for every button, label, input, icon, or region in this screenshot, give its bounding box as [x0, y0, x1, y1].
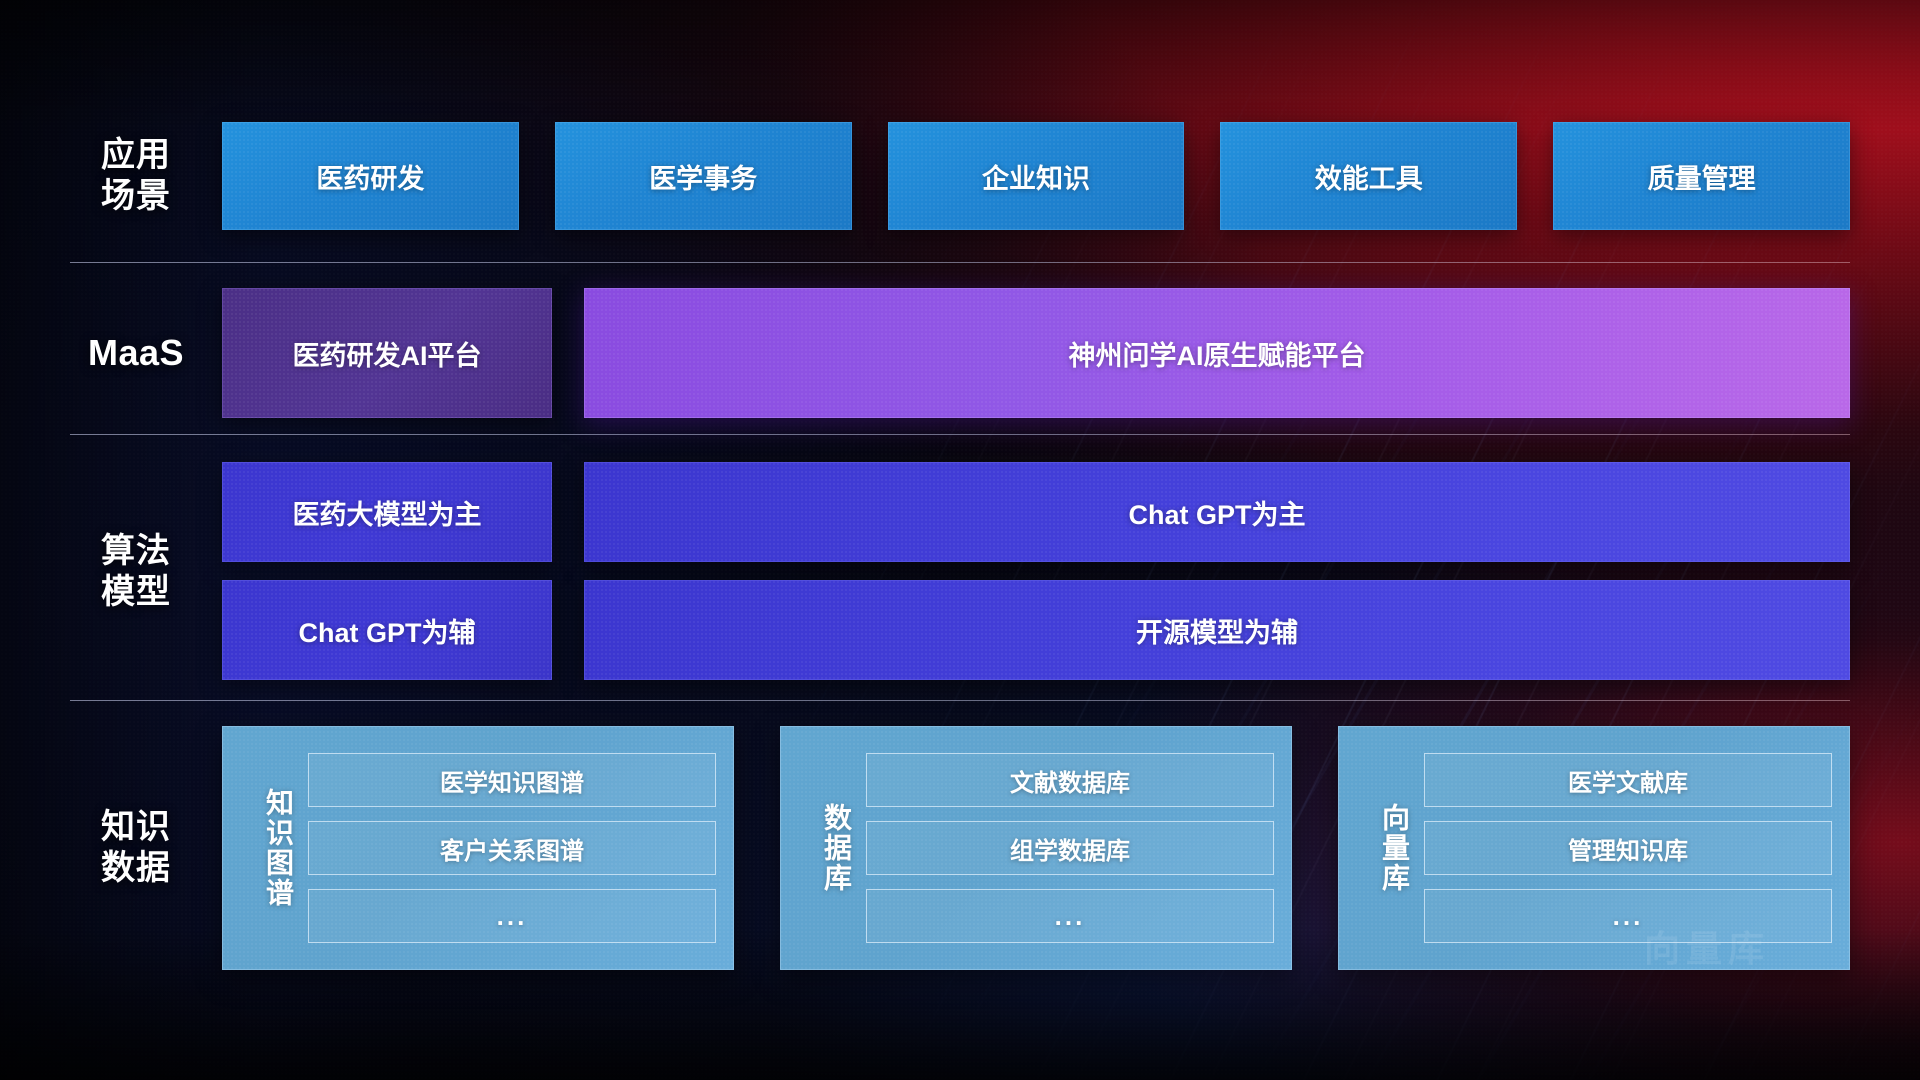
app-tile-quality-management[interactable]: 质量管理	[1553, 122, 1850, 230]
row-label-application-scenarios: 应用 场景	[70, 135, 202, 218]
app-tile-medical-affairs[interactable]: 医学事务	[555, 122, 852, 230]
algorithm-tiles: 医药大模型为主 Chat GPT为主 Chat GPT为辅 开源模型为辅	[222, 462, 1850, 682]
algo-tile-chatgpt-secondary[interactable]: Chat GPT为辅	[222, 580, 552, 680]
application-tiles: 医药研发 医学事务 企业知识 效能工具 质量管理	[222, 122, 1850, 230]
divider-algorithm-knowledge	[70, 700, 1850, 701]
row-knowledge-data: 知识 数据 知识图谱 医学知识图谱 客户关系图谱 ... 数据库 文献数据库	[70, 726, 1850, 970]
algo-tile-chatgpt-primary[interactable]: Chat GPT为主	[584, 462, 1850, 562]
row-algorithm-models: 算法 模型 医药大模型为主 Chat GPT为主 Chat GPT为辅 开源模型…	[70, 462, 1850, 682]
maas-tile-label: 医药研发AI平台	[293, 334, 482, 373]
app-tile-label: 企业知识	[982, 157, 1090, 196]
knowledge-panel-title: 数据库	[798, 803, 852, 893]
knowledge-item-omics-db[interactable]: 组学数据库	[866, 821, 1274, 875]
knowledge-item-customer-graph[interactable]: 客户关系图谱	[308, 821, 716, 875]
knowledge-item-literature-db[interactable]: 文献数据库	[866, 753, 1274, 807]
algo-tile-label: Chat GPT为主	[1128, 493, 1305, 532]
algo-tile-opensource-secondary[interactable]: 开源模型为辅	[584, 580, 1850, 680]
knowledge-item-more[interactable]: ...	[866, 889, 1274, 943]
knowledge-item-medical-graph[interactable]: 医学知识图谱	[308, 753, 716, 807]
algo-tile-label: 开源模型为辅	[1136, 611, 1298, 650]
app-tile-efficiency-tools[interactable]: 效能工具	[1220, 122, 1517, 230]
row-label-knowledge-data: 知识 数据	[70, 807, 202, 890]
maas-tiles: 医药研发AI平台 神州问学AI原生赋能平台	[222, 288, 1850, 418]
slide-canvas: 应用 场景 医药研发 医学事务 企业知识 效能工具 质量管理	[0, 0, 1920, 1080]
knowledge-panel-title: 知识图谱	[240, 788, 294, 908]
algorithm-line-primary: 医药大模型为主 Chat GPT为主	[222, 462, 1850, 562]
app-tile-label: 效能工具	[1315, 157, 1423, 196]
app-tile-label: 医药研发	[316, 157, 424, 196]
algorithm-line-secondary: Chat GPT为辅 开源模型为辅	[222, 580, 1850, 680]
app-tile-label: 质量管理	[1648, 157, 1756, 196]
knowledge-panel-database[interactable]: 数据库 文献数据库 组学数据库 ...	[780, 726, 1292, 970]
knowledge-panel-items: 医学文献库 管理知识库 ...	[1424, 753, 1832, 943]
maas-tile-label: 神州问学AI原生赋能平台	[1069, 334, 1366, 373]
knowledge-panel-knowledge-graph[interactable]: 知识图谱 医学知识图谱 客户关系图谱 ...	[222, 726, 734, 970]
diagram-content: 应用 场景 医药研发 医学事务 企业知识 效能工具 质量管理	[0, 0, 1920, 1080]
knowledge-item-more[interactable]: ...	[308, 889, 716, 943]
app-tile-pharma-rd[interactable]: 医药研发	[222, 122, 519, 230]
row-label-maas: MaaS	[70, 331, 202, 375]
knowledge-panel-title: 向量库	[1356, 803, 1410, 893]
algo-tile-label: 医药大模型为主	[293, 493, 482, 532]
knowledge-item-more[interactable]: ...	[1424, 889, 1832, 943]
row-label-algorithm-models: 算法 模型	[70, 462, 202, 682]
algo-tile-pharma-large-model-primary[interactable]: 医药大模型为主	[222, 462, 552, 562]
app-tile-label: 医学事务	[649, 157, 757, 196]
knowledge-item-management-knowledge-store[interactable]: 管理知识库	[1424, 821, 1832, 875]
row-application-scenarios: 应用 场景 医药研发 医学事务 企业知识 效能工具 质量管理	[70, 122, 1850, 230]
knowledge-panels: 知识图谱 医学知识图谱 客户关系图谱 ... 数据库 文献数据库 组学数据库 .…	[222, 726, 1850, 970]
maas-tile-pharma-ai-platform[interactable]: 医药研发AI平台	[222, 288, 552, 418]
knowledge-panel-items: 文献数据库 组学数据库 ...	[866, 753, 1274, 943]
app-tile-enterprise-knowledge[interactable]: 企业知识	[888, 122, 1185, 230]
knowledge-panel-vector-store[interactable]: 向量库 医学文献库 管理知识库 ...	[1338, 726, 1850, 970]
row-maas: MaaS 医药研发AI平台 神州问学AI原生赋能平台	[70, 288, 1850, 418]
algo-tile-label: Chat GPT为辅	[298, 611, 475, 650]
divider-maas-algorithm	[70, 434, 1850, 435]
maas-tile-shenzhou-wenxue-platform[interactable]: 神州问学AI原生赋能平台	[584, 288, 1850, 418]
knowledge-panel-items: 医学知识图谱 客户关系图谱 ...	[308, 753, 716, 943]
knowledge-item-medical-literature-store[interactable]: 医学文献库	[1424, 753, 1832, 807]
divider-application-maas	[70, 262, 1850, 263]
